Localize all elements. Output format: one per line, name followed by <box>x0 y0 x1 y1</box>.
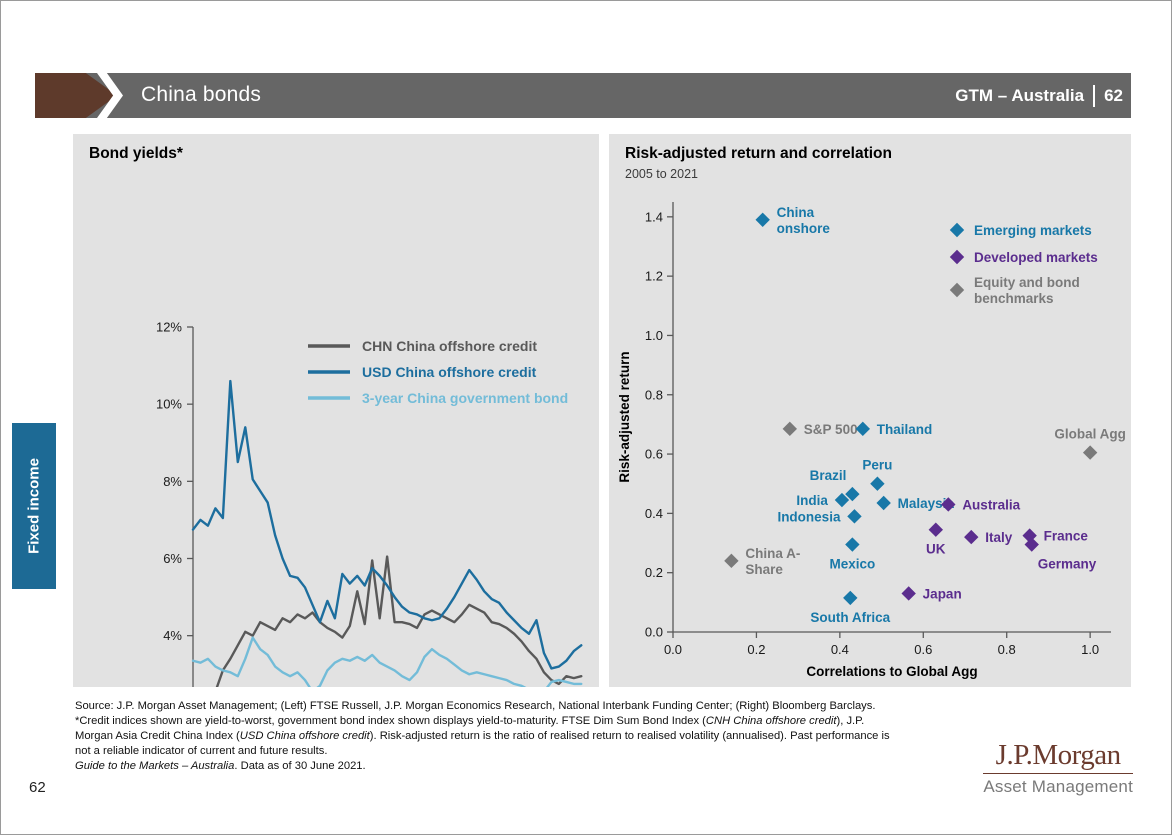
legend-label: CHN China offshore credit <box>362 338 537 354</box>
risk-return-chart: 0.00.20.40.60.81.01.21.40.00.20.40.60.81… <box>609 134 1131 687</box>
y-tick-label: 1.4 <box>645 209 663 224</box>
y-tick-label: 6% <box>163 551 182 566</box>
scatter-point-label: S&P 500 <box>804 422 858 437</box>
x-tick-label: 0.4 <box>831 642 849 657</box>
scatter-point-label: Chinaonshore <box>777 205 831 236</box>
scatter-point <box>964 530 978 544</box>
sidebar-tab-fixed-income[interactable]: Fixed income <box>12 423 56 589</box>
legend-label: Equity and bondbenchmarks <box>974 275 1080 306</box>
scatter-point <box>783 422 797 436</box>
scatter-point-label: China A-Share <box>745 546 800 577</box>
footnote-guide: Guide to the Markets – Australia. Data a… <box>75 759 965 774</box>
y-tick-label: 0.6 <box>645 447 663 462</box>
footnotes: Source: J.P. Morgan Asset Management; (L… <box>75 699 965 773</box>
y-tick-label: 12% <box>156 320 182 335</box>
y-tick-label: 0.2 <box>645 565 663 580</box>
scatter-point-label: Germany <box>1038 557 1097 572</box>
logo-jpmorgan: J.P.Morgan <box>983 739 1133 774</box>
page-title: China bonds <box>141 83 261 107</box>
legend-marker <box>950 283 964 297</box>
scatter-point <box>847 509 861 523</box>
legend-marker <box>950 223 964 237</box>
legend-marker <box>950 250 964 264</box>
scatter-point-label: UK <box>926 542 946 557</box>
y-axis-title: Risk-adjusted return <box>617 351 632 482</box>
bond-yields-title: Bond yields* <box>89 145 183 163</box>
scatter-point <box>876 496 890 510</box>
scatter-point <box>870 477 884 491</box>
legend-label: 3-year China government bond <box>362 390 568 406</box>
scatter-point-label: Australia <box>962 497 1020 512</box>
risk-return-title: Risk-adjusted return and correlation <box>625 145 892 163</box>
scatter-point-label: Italy <box>985 530 1013 545</box>
footnote-source: Source: J.P. Morgan Asset Management; (L… <box>75 699 965 714</box>
header-page-number: 62 <box>1104 86 1123 106</box>
y-tick-label: 0.0 <box>645 625 663 640</box>
footnote-credit-indices: *Credit indices shown are yield-to-worst… <box>75 714 965 729</box>
x-axis-title: Correlations to Global Agg <box>806 664 977 679</box>
slide-page-number: 62 <box>29 779 46 796</box>
y-tick-label: 0.8 <box>645 387 663 402</box>
scatter-point <box>843 591 857 605</box>
scatter-point-label: France <box>1044 529 1089 544</box>
x-tick-label: 0.2 <box>747 642 765 657</box>
scatter-point-label: South Africa <box>810 610 890 625</box>
scatter-point-label: India <box>796 493 828 508</box>
x-tick-label: 0.8 <box>998 642 1016 657</box>
jpmorgan-logo: J.P.Morgan Asset Management <box>983 739 1133 797</box>
scatter-point <box>856 422 870 436</box>
logo-asset-management: Asset Management <box>983 777 1133 797</box>
y-tick-label: 10% <box>156 397 182 412</box>
slide: China bonds GTM – Australia 62 Fixed inc… <box>0 0 1172 835</box>
y-tick-label: 1.2 <box>645 269 663 284</box>
header-divider <box>1093 85 1095 107</box>
header-gtm-label: GTM – Australia <box>955 86 1084 106</box>
scatter-point-label: Indonesia <box>777 509 841 524</box>
sidebar-tab-label: Fixed income <box>26 458 43 554</box>
risk-return-panel: Risk-adjusted return and correlation 200… <box>609 134 1131 687</box>
scatter-point-label: Brazil <box>810 468 847 483</box>
scatter-point-label: Japan <box>923 586 962 601</box>
y-tick-label: 1.0 <box>645 328 663 343</box>
risk-return-subtitle: 2005 to 2021 <box>625 167 698 181</box>
scatter-point-label: Peru <box>862 458 892 473</box>
x-tick-label: 1.0 <box>1081 642 1099 657</box>
scatter-point <box>929 522 943 536</box>
legend-label: Developed markets <box>974 250 1098 265</box>
header-meta: GTM – Australia 62 <box>955 85 1123 107</box>
x-tick-label: 0.0 <box>664 642 682 657</box>
footnote-asia-credit: Morgan Asia Credit China Index (USD Chin… <box>75 729 965 744</box>
scatter-point <box>1083 445 1097 459</box>
legend-label: USD China offshore credit <box>362 364 537 380</box>
scatter-point <box>845 537 859 551</box>
y-tick-label: 0.4 <box>645 506 663 521</box>
legend-label: Emerging markets <box>974 223 1092 238</box>
footnote-disclaimer: not a reliable indicator of current and … <box>75 744 965 759</box>
series-line-usd-china-offshore-credit <box>193 381 581 668</box>
bond-yields-chart: 0%2%4%6%8%10%12%'11'13'15'17'19'21CHN Ch… <box>73 134 599 687</box>
y-tick-label: 8% <box>163 474 182 489</box>
x-tick-label: 0.6 <box>914 642 932 657</box>
scatter-point-label: Mexico <box>829 557 875 572</box>
scatter-point <box>901 586 915 600</box>
scatter-point-label: Global Agg <box>1054 427 1126 442</box>
bond-yields-panel: Bond yields* 0%2%4%6%8%10%12%'11'13'15'1… <box>73 134 599 687</box>
y-tick-label: 4% <box>163 628 182 643</box>
scatter-point-label: Thailand <box>877 422 933 437</box>
scatter-point <box>724 554 738 568</box>
scatter-point <box>755 213 769 227</box>
